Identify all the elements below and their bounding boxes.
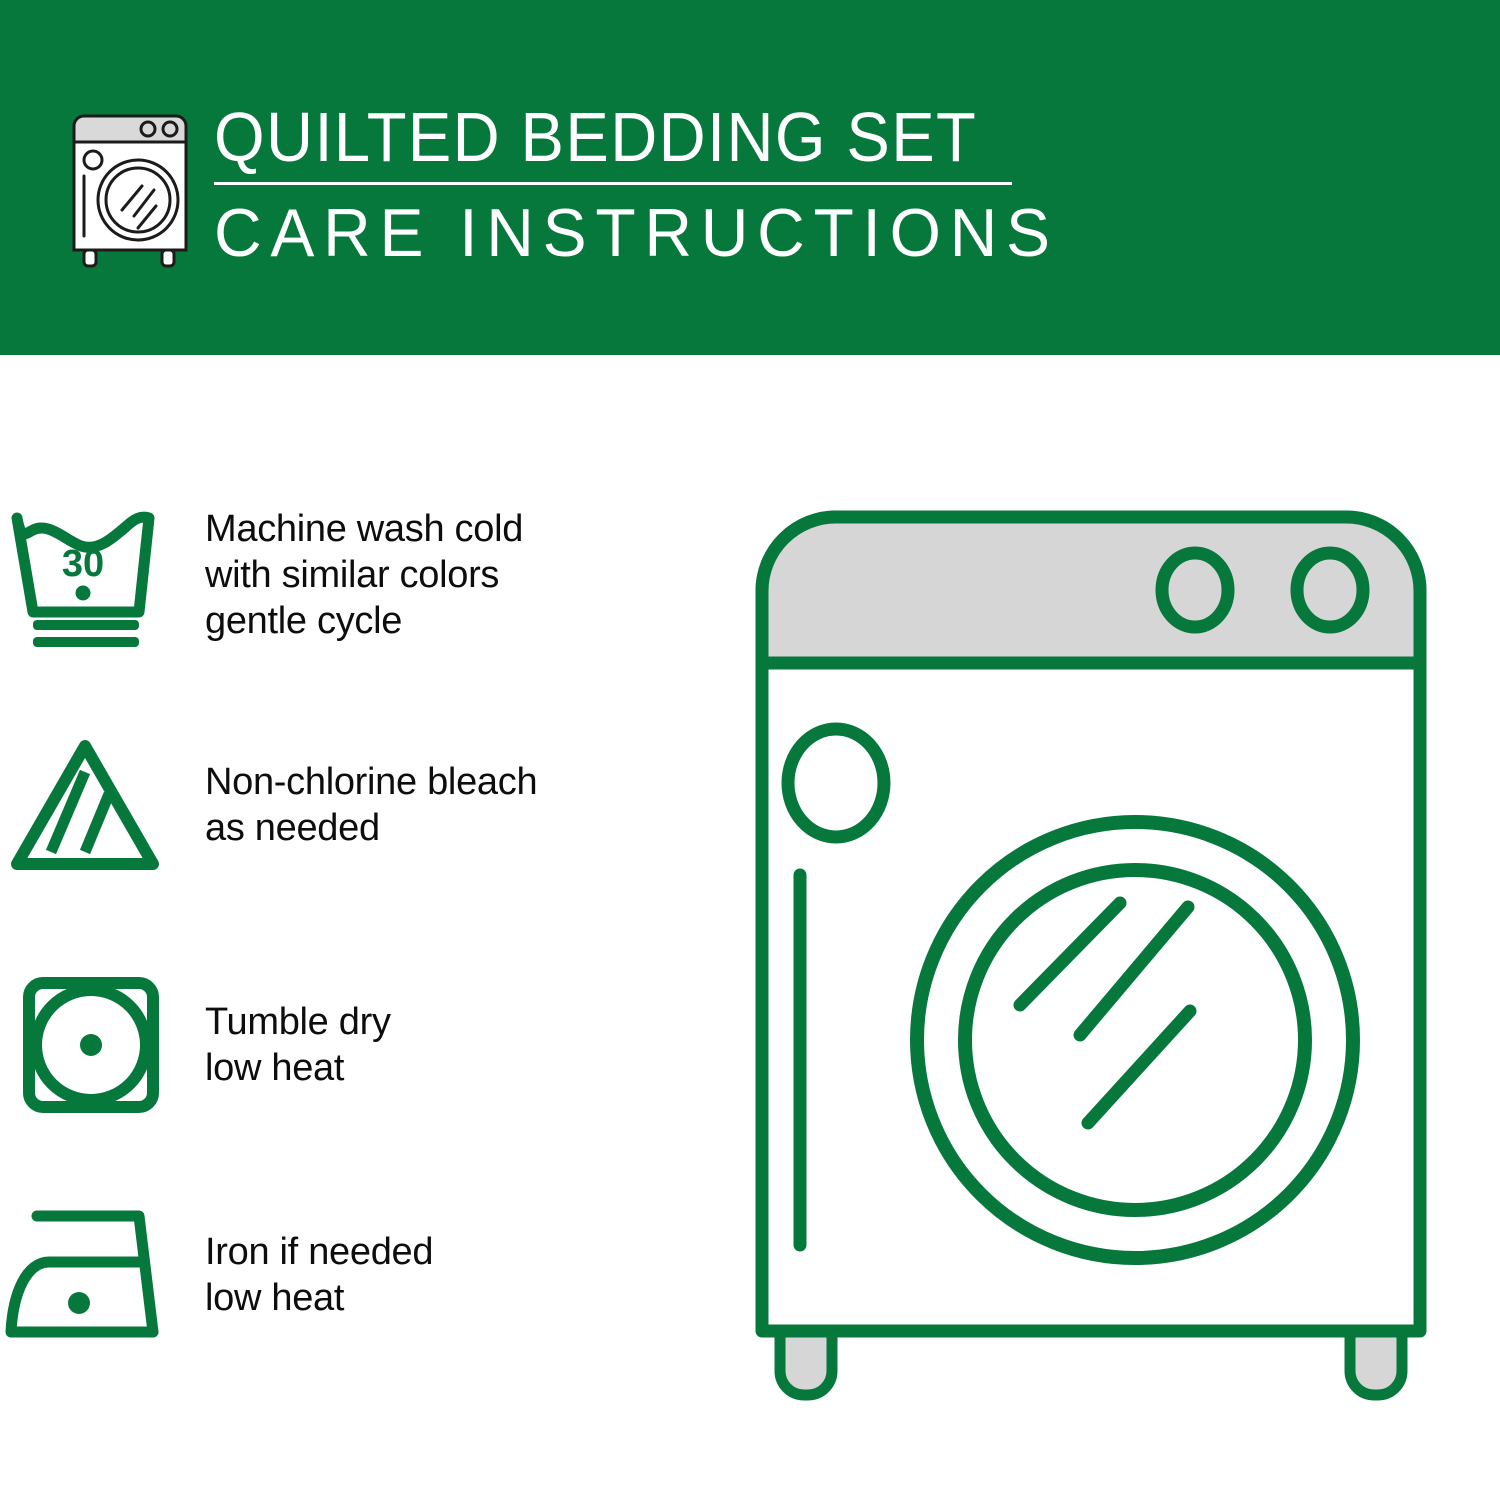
care-text-line: as needed	[205, 805, 537, 851]
care-text-line: low heat	[205, 1045, 391, 1091]
care-text-line: gentle cycle	[205, 598, 523, 644]
front-load-washing-machine-illustration	[740, 495, 1450, 1415]
care-text-machine-wash: Machine wash cold with similar colors ge…	[175, 506, 523, 644]
care-text-line: low heat	[205, 1275, 433, 1321]
knob-left	[1162, 553, 1228, 627]
care-text-iron: Iron if needed low heat	[175, 1229, 433, 1321]
header-divider	[214, 182, 1012, 185]
care-row-iron: Iron if needed low heat	[0, 1200, 720, 1350]
care-row-bleach: Non-chlorine bleach as needed	[0, 730, 720, 880]
door-inner-ring	[965, 870, 1305, 1210]
page-title: QUILTED BEDDING SET	[214, 100, 958, 174]
washing-machine-icon	[62, 104, 198, 270]
care-text-tumble-dry: Tumble dry low heat	[175, 999, 391, 1091]
wash-temp-label: 30	[61, 543, 103, 585]
header-text-block: QUILTED BEDDING SET CARE INSTRUCTIONS	[214, 100, 1014, 269]
iron-low-heat-icon	[0, 1200, 175, 1350]
care-text-line: Iron if needed	[205, 1229, 433, 1275]
page-subtitle: CARE INSTRUCTIONS	[214, 197, 990, 269]
tumble-dry-low-icon	[0, 970, 175, 1120]
header-band: QUILTED BEDDING SET CARE INSTRUCTIONS	[0, 0, 1500, 355]
knob-right	[1297, 553, 1363, 627]
care-instructions-infographic: QUILTED BEDDING SET CARE INSTRUCTIONS 30	[0, 0, 1500, 1500]
care-row-machine-wash: 30 Machine wash cold with similar colors…	[0, 500, 720, 650]
non-chlorine-bleach-triangle-icon	[0, 730, 175, 880]
care-text-line: Non-chlorine bleach	[205, 759, 537, 805]
care-text-line: with similar colors	[205, 552, 523, 598]
care-row-tumble-dry: Tumble dry low heat	[0, 970, 720, 1120]
care-text-line: Tumble dry	[205, 999, 391, 1045]
care-text-bleach: Non-chlorine bleach as needed	[175, 759, 537, 851]
detergent-port	[788, 729, 884, 837]
care-text-line: Machine wash cold	[205, 506, 523, 552]
wash-tub-30-icon: 30	[0, 500, 175, 650]
